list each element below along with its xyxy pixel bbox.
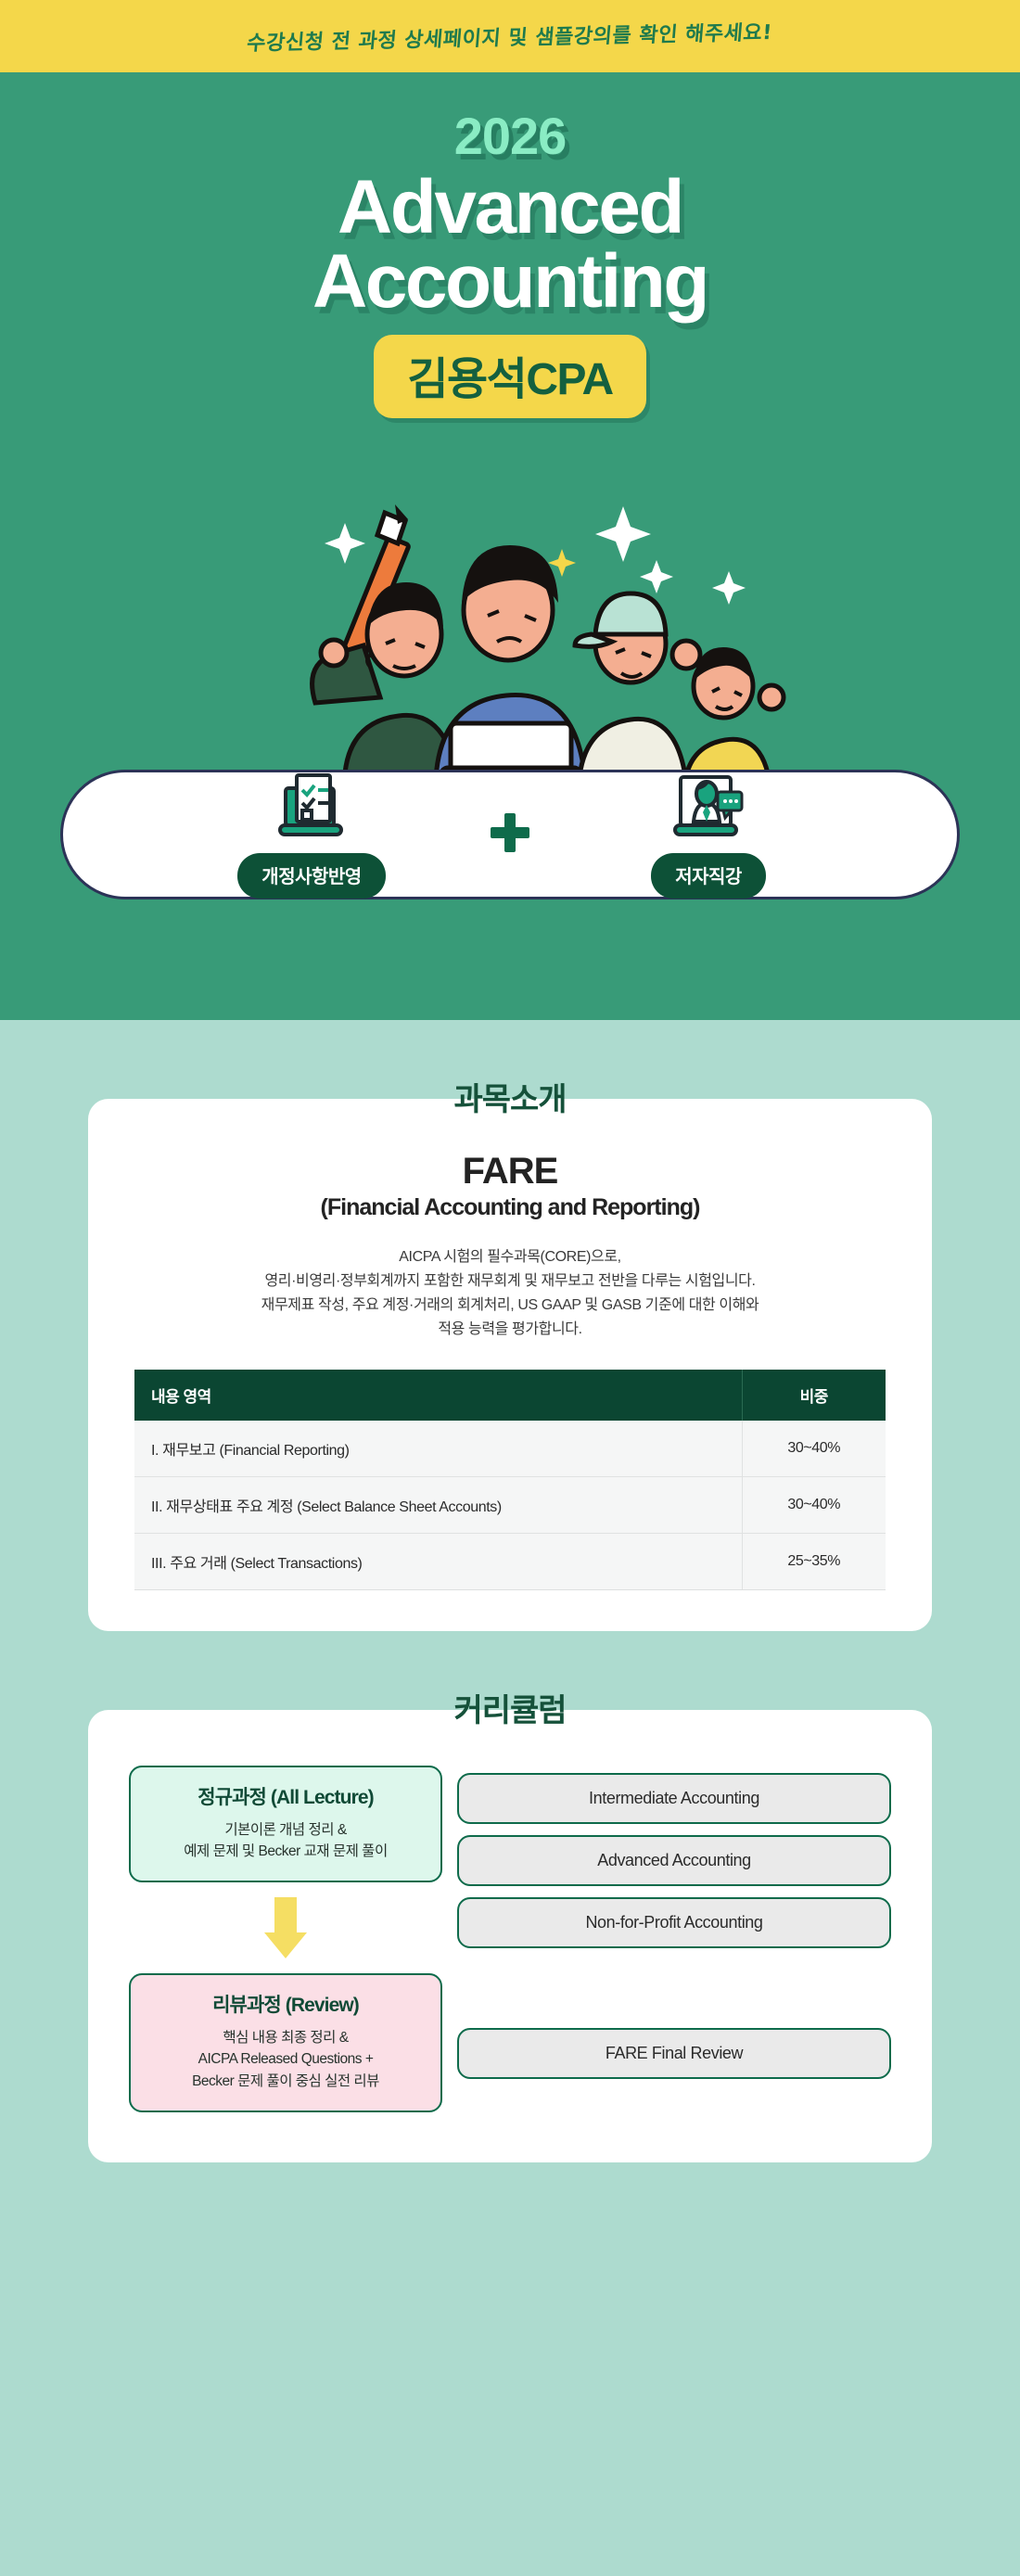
table-header-area: 내용 영역 [134, 1370, 742, 1421]
students-illustration-svg [223, 471, 797, 805]
fare-description-line: 재무제표 작성, 주요 계정·거래의 회계처리, US GAAP 및 GASB … [133, 1294, 887, 1318]
table-body: I. 재무보고 (Financial Reporting) 30~40% II.… [134, 1421, 886, 1590]
regular-course-title: 정규과정 (All Lecture) [147, 1782, 424, 1810]
arrow-head [264, 1932, 307, 1958]
regular-course-body-line: 기본이론 개념 정리 & [147, 1819, 424, 1841]
hero-year: 2026 [0, 72, 1020, 166]
regular-course-body: 기본이론 개념 정리 & 예제 문제 및 Becker 교재 문제 풀이 [147, 1819, 424, 1863]
course-pill-intermediate-accounting: Intermediate Accounting [457, 1773, 891, 1824]
course-pill-advanced-accounting: Advanced Accounting [457, 1835, 891, 1886]
hero-section: 2026 Advanced Accounting 김용석CPA [0, 72, 1020, 1020]
fist-icon [759, 685, 784, 709]
hero-title-line-2: Accounting [0, 246, 1020, 318]
instructor-badge-wrapper: 김용석CPA [0, 335, 1020, 418]
curriculum-left-column: 정규과정 (All Lecture) 기본이론 개념 정리 & 예제 문제 및 … [129, 1766, 442, 2112]
feature-item-author-lecture: 저자직강 [602, 772, 815, 899]
table-cell-area: III. 주요 거래 (Select Transactions) [134, 1533, 742, 1589]
table-header-row: 내용 영역 비중 [134, 1370, 886, 1421]
instructor-badge: 김용석CPA [374, 335, 645, 418]
review-course-body-line: Becker 문제 풀이 중심 실전 리뷰 [147, 2071, 424, 2092]
top-promo-banner-text: 수강신청 전 과정 상세페이지 및 샘플강의를 확인 해주세요! [246, 16, 773, 57]
subject-intro-heading: 과목소개 [0, 1074, 1020, 1119]
table-cell-weight: 30~40% [742, 1476, 886, 1533]
review-course-body: 핵심 내용 최종 정리 & AICPA Released Questions +… [147, 2027, 424, 2092]
table-header-weight: 비중 [742, 1370, 886, 1421]
arrow-down-icon [264, 1897, 307, 1958]
review-course-body-line: AICPA Released Questions + [147, 2048, 424, 2070]
table-cell-area: II. 재무상태표 주요 계정 (Select Balance Sheet Ac… [134, 1476, 742, 1533]
review-course-title: 리뷰과정 (Review) [147, 1990, 424, 2018]
subject-intro-panel: FARE (Financial Accounting and Reporting… [88, 1099, 932, 1631]
table-head: 내용 영역 비중 [134, 1370, 886, 1421]
students-illustration [0, 471, 1020, 805]
curriculum-section: 커리큘럼 정규과정 (All Lecture) 기본이론 개념 정리 & 예제 … [0, 1631, 1020, 2162]
table-cell-weight: 25~35% [742, 1533, 886, 1589]
table-row: II. 재무상태표 주요 계정 (Select Balance Sheet Ac… [134, 1476, 886, 1533]
fist-icon [672, 641, 700, 669]
course-pill-fare-final-review: FARE Final Review [457, 2028, 891, 2079]
feature-item-revision: 개정사항반영 [205, 772, 418, 899]
checklist-laptop-icon [274, 772, 349, 840]
fare-subtitle: (Financial Accounting and Reporting) [133, 1194, 887, 1221]
regular-course-body-line: 예제 문제 및 Becker 교재 문제 풀이 [147, 1841, 424, 1862]
table-row: I. 재무보고 (Financial Reporting) 30~40% [134, 1421, 886, 1477]
fist-icon [321, 640, 347, 666]
cap-icon [595, 593, 666, 634]
hero-title-line-1: Advanced [0, 172, 1020, 244]
review-course-box: 리뷰과정 (Review) 핵심 내용 최종 정리 & AICPA Releas… [129, 1973, 442, 2112]
curriculum-heading: 커리큘럼 [0, 1685, 1020, 1730]
student-center-laptop [436, 545, 586, 805]
plus-icon [491, 813, 529, 852]
curriculum-panel: 정규과정 (All Lecture) 기본이론 개념 정리 & 예제 문제 및 … [88, 1710, 932, 2162]
curriculum-grid: 정규과정 (All Lecture) 기본이론 개념 정리 & 예제 문제 및 … [129, 1766, 891, 2112]
subject-weight-table: 내용 영역 비중 I. 재무보고 (Financial Reporting) 3… [134, 1370, 886, 1590]
curriculum-right-column: Intermediate Accounting Advanced Account… [457, 1766, 891, 2090]
subject-intro-section: 과목소개 FARE (Financial Accounting and Repo… [0, 1020, 1020, 1631]
fare-description-line: 영리·비영리·정부회계까지 포함한 재무회계 및 재무보고 전반을 다루는 시험… [133, 1269, 887, 1294]
arrow-stem [274, 1897, 297, 1934]
fare-description: AICPA 시험의 필수과목(CORE)으로, 영리·비영리·정부회계까지 포함… [133, 1245, 887, 1342]
table-cell-area: I. 재무보고 (Financial Reporting) [134, 1421, 742, 1477]
feature-pill-author-lecture: 저자직강 [651, 853, 766, 899]
review-course-body-line: 핵심 내용 최종 정리 & [147, 2027, 424, 2048]
table-row: III. 주요 거래 (Select Transactions) 25~35% [134, 1533, 886, 1589]
table-cell-weight: 30~40% [742, 1421, 886, 1477]
fare-description-line: AICPA 시험의 필수과목(CORE)으로, [133, 1245, 887, 1269]
content-body: 과목소개 FARE (Financial Accounting and Repo… [0, 1020, 1020, 2576]
fare-description-line: 적용 능력을 평가합니다. [133, 1318, 887, 1342]
feature-pill-revision: 개정사항반영 [237, 853, 385, 899]
top-promo-banner: 수강신청 전 과정 상세페이지 및 샘플강의를 확인 해주세요! [0, 0, 1020, 72]
course-pill-non-for-profit-accounting: Non-for-Profit Accounting [457, 1897, 891, 1948]
fare-title: FARE [133, 1151, 887, 1192]
regular-course-box: 정규과정 (All Lecture) 기본이론 개념 정리 & 예제 문제 및 … [129, 1766, 442, 1883]
hero-feature-card: 개정사항반영 저자직강 [60, 770, 960, 899]
instructor-laptop-icon [669, 772, 747, 840]
